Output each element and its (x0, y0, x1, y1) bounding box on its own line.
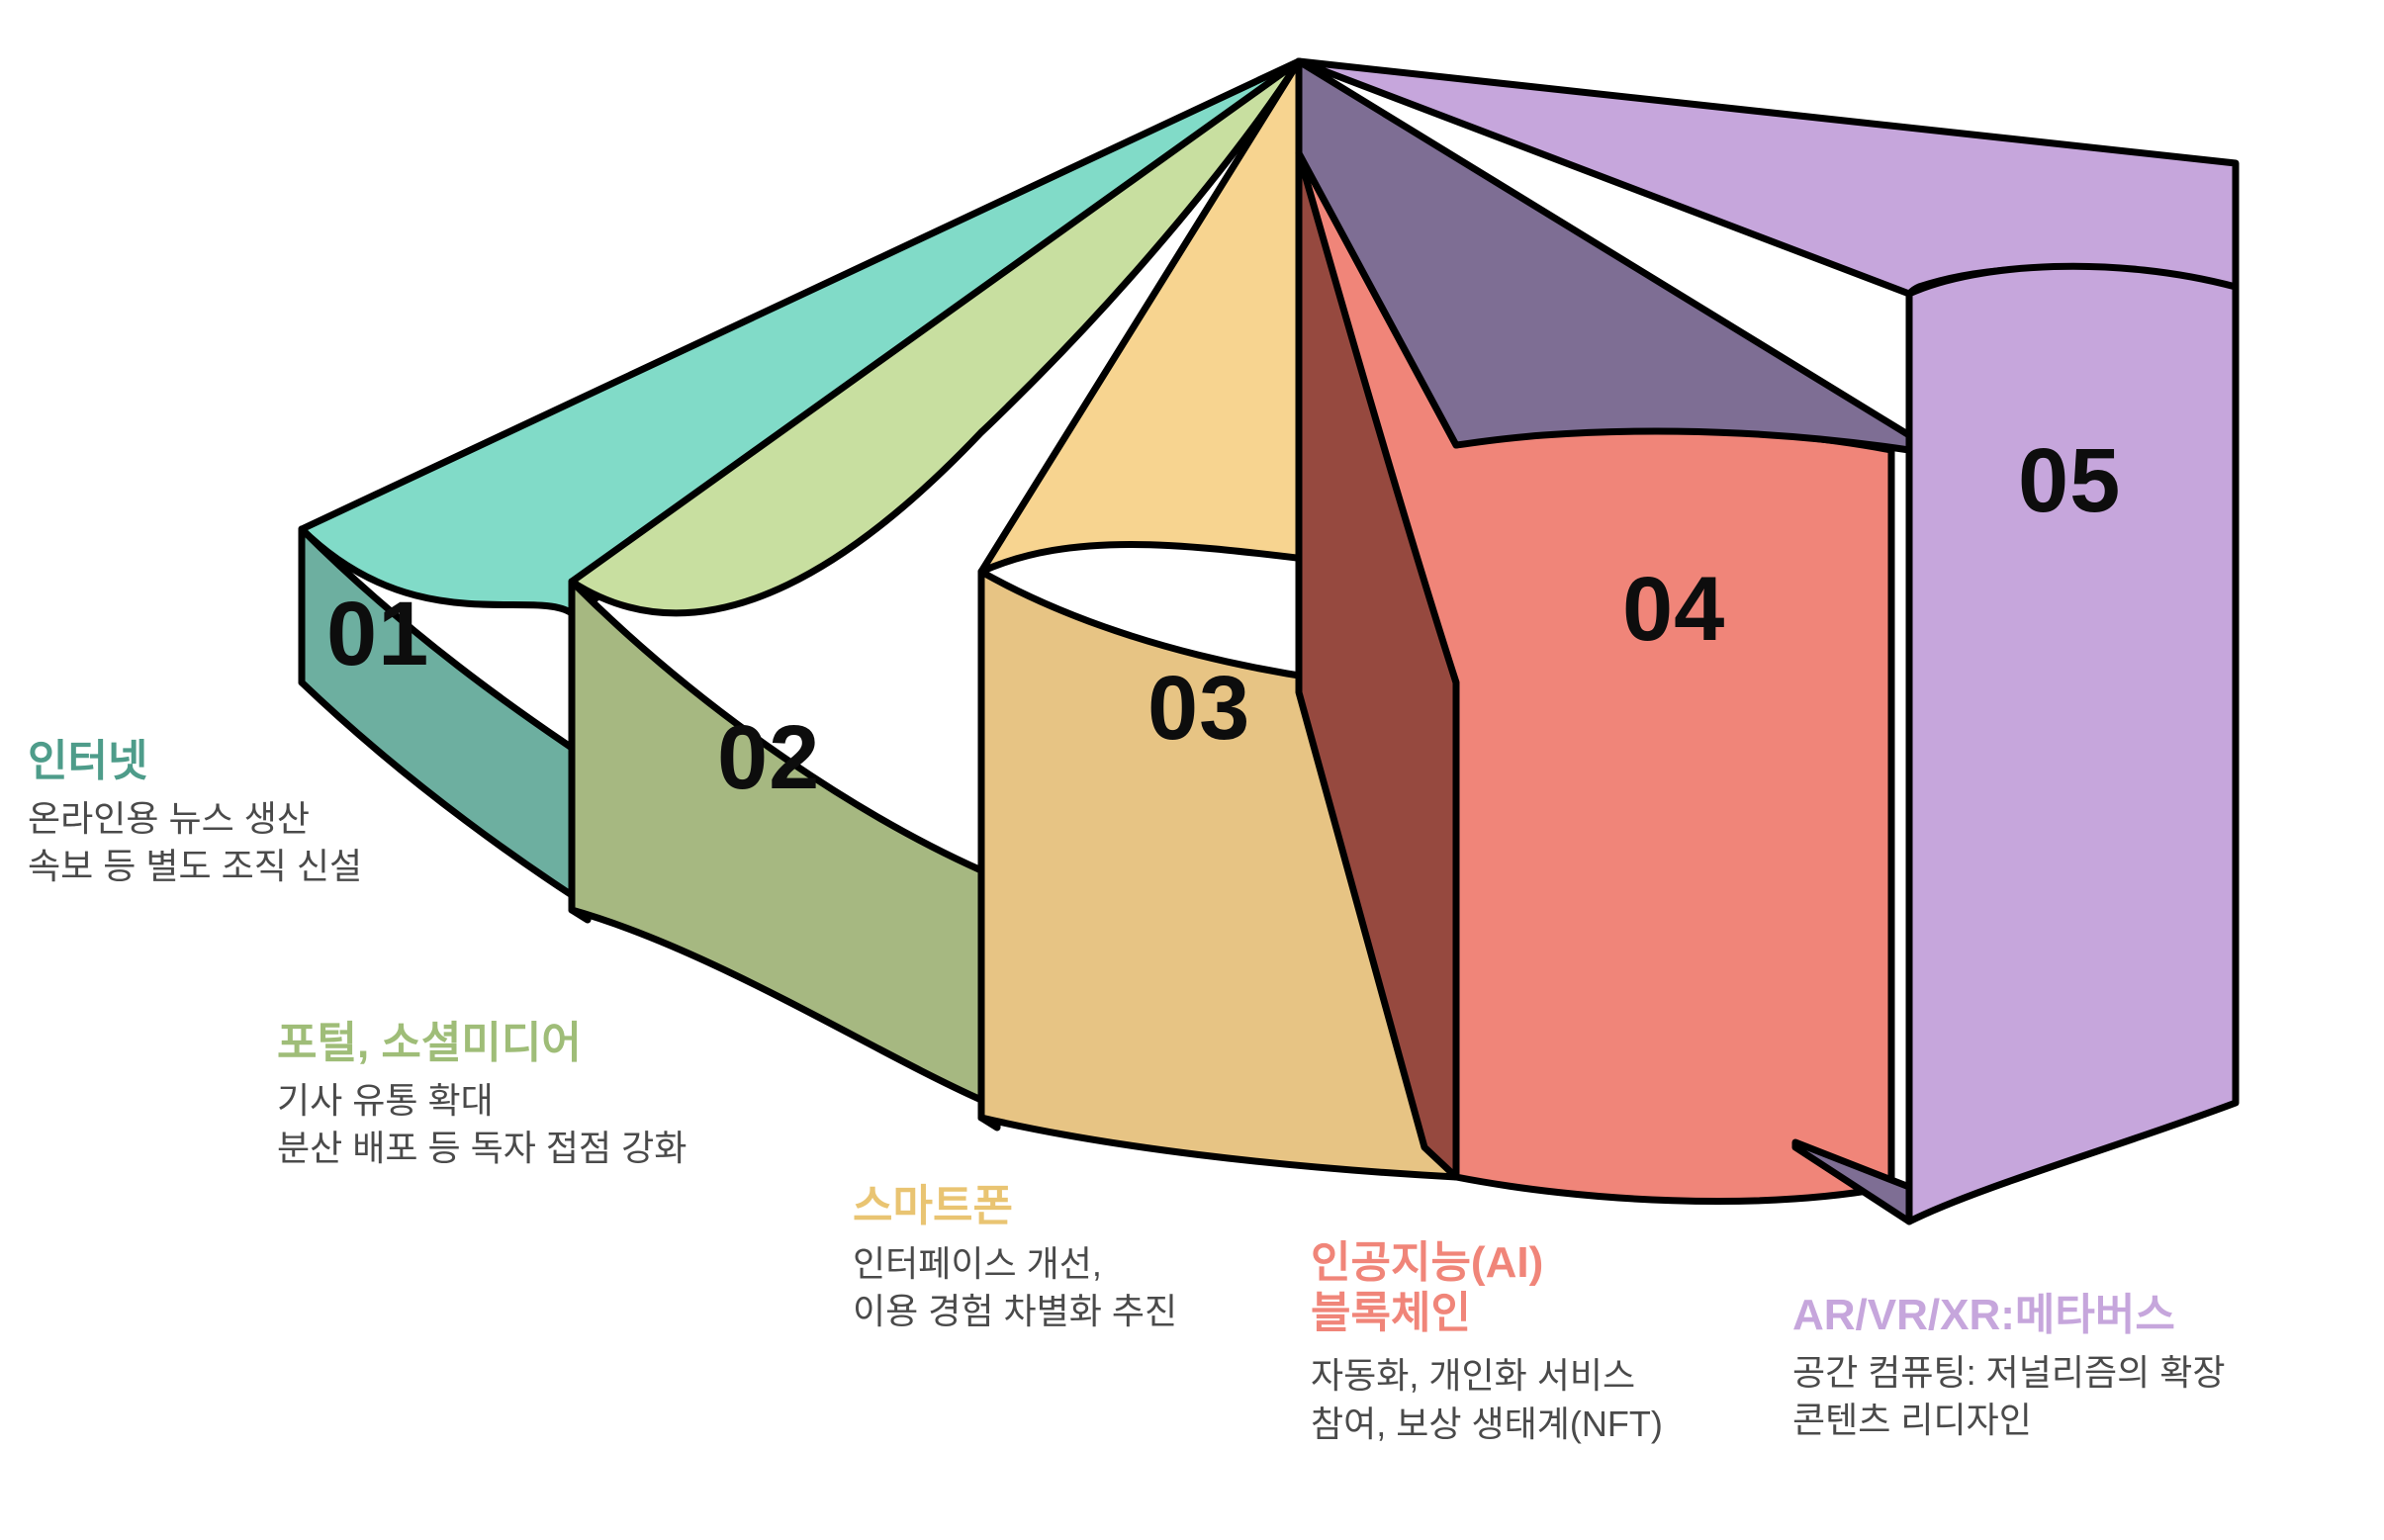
step-label-04: 인공지능(AI) 블록체인 자동화, 개인화 서비스 참여, 보상 생태계(NF… (1311, 1238, 1663, 1448)
step-label-02: 포털, 소셜미디어 기사 유통 확대 분산 배포 등 독자 접점 강화 (277, 1019, 687, 1173)
funnel-diagram: 01 02 03 04 05 인터넷 온라인용 뉴스 생산 속보 등 별도 조직… (0, 0, 2384, 1540)
step-label-05: AR/VR/XR:메타버스 공간 컴퓨팅: 저널리즘의 확장 콘텐츠 리디자인 (1792, 1291, 2225, 1445)
step-number-03: 03 (1147, 663, 1250, 754)
step-05-body-line-1: 공간 컴퓨팅: 저널리즘의 확장 (1792, 1349, 2225, 1398)
step-label-01: 인터넷 온라인용 뉴스 생산 속보 등 별도 조직 신설 (28, 737, 362, 891)
step-02-title: 포털, 소셜미디어 (277, 1019, 687, 1069)
step-01-body-line-2: 속보 등 별도 조직 신설 (28, 843, 362, 891)
step-02-body-line-2: 분산 배포 등 독자 접점 강화 (277, 1125, 687, 1173)
step-01-title: 인터넷 (28, 737, 362, 787)
step-01-body-line-1: 온라인용 뉴스 생산 (28, 795, 362, 844)
step-number-05: 05 (2018, 435, 2121, 526)
step-02-body-line-1: 기사 유통 확대 (277, 1077, 687, 1126)
step-04-title-line-1: 인공지능(AI) (1311, 1238, 1663, 1289)
step-05-front-face (1909, 266, 2236, 1222)
step-label-03: 스마트폰 인터페이스 개선, 이용 경험 차별화 추진 (853, 1182, 1177, 1336)
step-03-body-line-2: 이용 경험 차별화 추진 (853, 1288, 1177, 1336)
step-03-body-line-1: 인터페이스 개선, (853, 1240, 1177, 1289)
step-number-02: 02 (717, 712, 820, 803)
step-05-body-line-2: 콘텐츠 리디자인 (1792, 1397, 2225, 1445)
step-04-body-line-1: 자동화, 개인화 서비스 (1311, 1352, 1663, 1401)
step-number-04: 04 (1622, 564, 1725, 655)
step-number-01: 01 (326, 589, 429, 679)
step-05-title: AR/VR/XR:메타버스 (1792, 1291, 2225, 1341)
step-04-body-line-2: 참여, 보상 생태계(NFT) (1311, 1401, 1663, 1449)
step-03-title: 스마트폰 (853, 1182, 1177, 1232)
step-04-title-line-2: 블록체인 (1311, 1289, 1663, 1339)
